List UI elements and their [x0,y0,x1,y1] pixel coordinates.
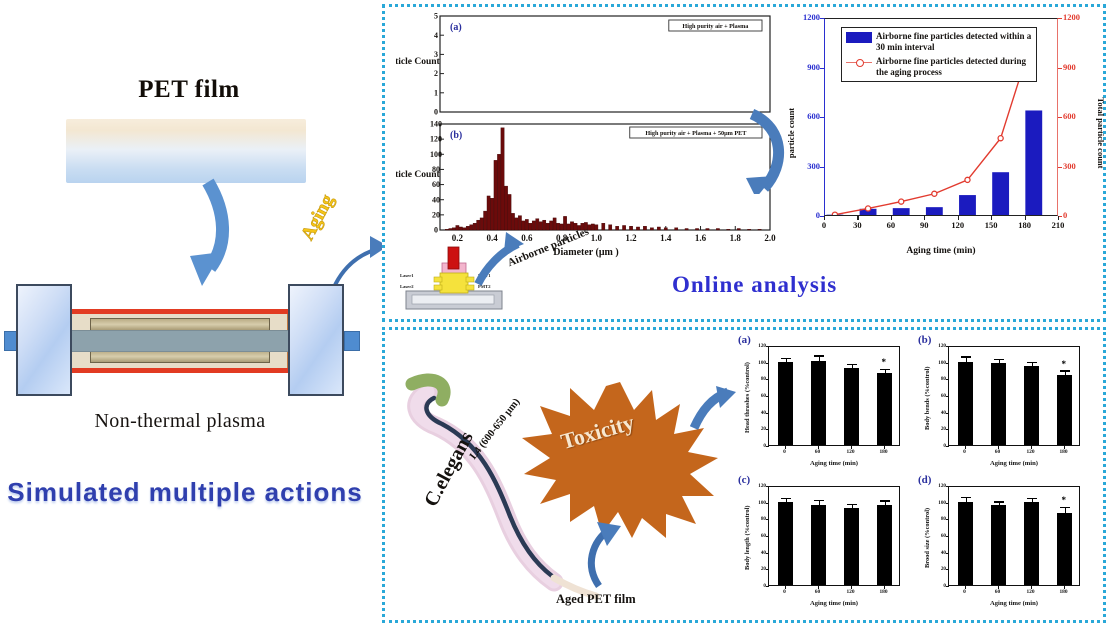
particle-size-distribution-chart: 0123450204060801001201400.20.40.60.81.01… [396,8,776,258]
tick-mark [998,446,999,449]
significance-marker: * [1062,359,1067,369]
bar [811,361,826,445]
hv-line-bottom [64,368,292,373]
tick-mark [965,586,966,589]
tick-mark [946,519,949,520]
y-tick: 80 [930,376,946,382]
svg-text:2.0: 2.0 [764,233,776,243]
svg-text:1: 1 [434,88,438,97]
svg-text:60: 60 [432,180,440,189]
x-tick: 0 [812,220,836,230]
x-axis-label: Aging time (min) [768,460,900,467]
bar [1024,366,1039,445]
tick-mark [1064,586,1065,589]
tick-mark [766,486,769,487]
y-tick: 60 [750,393,766,399]
x-tick: 90 [912,220,936,230]
tick-mark [766,413,769,414]
tick-mark [946,503,949,504]
y-tick: 0 [750,583,766,589]
error-bar [999,360,1000,363]
tick-mark [884,586,885,589]
legend-item-line: Airborne fine particles detected during … [846,56,1032,79]
error-bar-cap [880,369,890,370]
bar [958,502,973,585]
error-bar [1065,372,1066,375]
plasma-aging-schematic: PET film Aging Non-t [0,0,378,627]
reactor-caption: Non-thermal plasma [4,410,356,433]
tick-mark [785,586,786,589]
legend-label-line: Airborne fine particles detected during … [876,56,1032,79]
svg-text:(b): (b) [450,130,462,141]
tick-mark [766,553,769,554]
tick-mark [1025,216,1026,220]
y-tick-left: 300 [790,161,820,171]
x-tick: 150 [979,220,1003,230]
error-bar [852,365,853,368]
y-tick: 0 [750,443,766,449]
bar [844,508,859,586]
svg-text:1.0: 1.0 [591,233,603,243]
bar [1057,513,1072,586]
tick-mark [766,446,769,447]
tick-mark [946,413,949,414]
y-tick: 120 [750,483,766,489]
brood-size-chart: (d) Brood size (%control) * Aging time (… [918,474,1094,616]
tick-mark [946,486,949,487]
y-tick: 80 [750,516,766,522]
y-tick: 120 [750,343,766,349]
y-tick: 40 [930,410,946,416]
tick-mark [766,396,769,397]
y-tick: 40 [750,410,766,416]
arrow-down-icon [178,178,238,288]
plot-area: * [948,486,1080,586]
y-tick: 120 [930,483,946,489]
x-axis-label: Aging time (min) [948,460,1080,467]
tick-mark [958,216,959,220]
y-tick: 80 [930,516,946,522]
error-bar-cap [814,500,824,501]
tick-mark [820,167,824,168]
x-tick: 180 [872,449,896,455]
svg-text:2: 2 [434,69,438,78]
histogram-canvas: 0123450204060801001201400.20.40.60.81.01… [396,8,776,258]
bar [778,362,793,445]
significance-marker: * [1062,495,1067,505]
error-bar-cap [781,358,791,359]
error-bar [819,501,820,505]
tick-mark [818,446,819,449]
x-tick: 60 [879,220,903,230]
legend-swatch-line-icon [846,57,872,68]
bar [844,368,859,445]
bar [1024,502,1039,585]
simulated-actions-label: Simulated multiple actions [0,477,370,508]
chart-legend: Airborne fine particles detected within … [841,27,1037,82]
error-bar-cap [880,500,890,501]
y-tick-right: 900 [1063,62,1076,72]
tick-mark [946,586,949,587]
panel-tag-a: (a) [738,334,751,346]
tick-mark [1058,216,1059,220]
error-bar-cap [847,364,857,365]
tick-mark [1058,167,1062,168]
svg-text:0.2: 0.2 [452,233,464,243]
bar [877,373,892,445]
pet-sample-strip [68,330,288,352]
error-bar [1032,363,1033,366]
legend-swatch-bar-icon [846,32,872,43]
aging-y-axis-label-right: Total particle count [1096,98,1106,169]
svg-text:5: 5 [434,12,438,21]
reactor-endcap-right [288,284,344,396]
tick-mark [946,379,949,380]
svg-text:100: 100 [430,150,442,159]
tick-mark [766,379,769,380]
bar [877,505,892,585]
x-tick: 180 [1052,589,1076,595]
tick-mark [820,117,824,118]
svg-text:1.6: 1.6 [695,233,707,243]
y-tick: 20 [750,566,766,572]
reactor-endcap-left [16,284,72,396]
tick-mark [946,536,949,537]
error-bar-cap [781,498,791,499]
error-bar-cap [961,356,971,357]
error-bar [1032,499,1033,502]
tick-mark [1058,117,1062,118]
svg-text:40: 40 [432,195,440,204]
x-tick: 180 [1052,449,1076,455]
svg-text:20: 20 [432,210,440,219]
svg-text:1.4: 1.4 [660,233,672,243]
tick-mark [766,586,769,587]
error-bar-cap [847,504,857,505]
aging-x-axis-label: Aging time (min) [824,246,1058,256]
legend-label-bar: Airborne fine particles detected within … [876,31,1032,54]
y-tick: 100 [930,360,946,366]
arrow-right-icon [690,386,738,432]
svg-text:4: 4 [434,31,438,40]
aged-pet-film-label: Aged PET film [556,592,636,607]
svg-text:Particle Count: Particle Count [396,170,441,180]
y-tick: 0 [930,583,946,589]
tick-mark [851,586,852,589]
aging-time-particle-count-chart: Airborne fine particles detected within … [790,8,1102,258]
tick-mark [785,446,786,449]
hv-line-top [64,309,292,314]
x-tick: 0 [953,449,977,455]
tick-mark [766,519,769,520]
tick-mark [946,396,949,397]
svg-text:High purity air + Plasma: High purity air + Plasma [682,23,748,30]
error-bar-cap [1060,507,1070,508]
head-thrashes-chart: (a) Head thrashes (%control) * Aging tim… [738,334,914,474]
x-tick: 120 [1019,449,1043,455]
error-bar-cap [994,501,1004,502]
tick-mark [1064,446,1065,449]
x-tick: 0 [773,589,797,595]
tick-mark [766,429,769,430]
bar [991,505,1006,585]
y-tick-right: 600 [1063,111,1076,121]
error-bar-cap [994,359,1004,360]
tick-mark [965,446,966,449]
tick-mark [946,569,949,570]
online-analysis-label: Online analysis [672,272,837,298]
y-tick: 100 [750,360,766,366]
y-tick: 40 [930,550,946,556]
x-tick: 120 [946,220,970,230]
y-tick: 60 [930,393,946,399]
x-tick: 210 [1046,220,1070,230]
y-tick-right: 0 [1063,210,1067,220]
x-tick: 180 [872,589,896,595]
laser1-label: Laser1 [400,273,414,278]
error-bar-cap [1060,370,1070,371]
y-tick: 20 [750,426,766,432]
aging-plot-area: Airborne fine particles detected within … [824,18,1058,216]
legend-item-bar: Airborne fine particles detected within … [846,31,1032,54]
y-tick: 60 [930,533,946,539]
graphical-abstract: PET film Aging Non-t [0,0,1110,627]
svg-text:1.8: 1.8 [730,233,742,243]
laser2-label: Laser2 [400,284,414,289]
y-tick-left: 0 [790,210,820,220]
tick-mark [884,446,885,449]
tick-mark [1031,586,1032,589]
y-tick-left: 600 [790,111,820,121]
error-bar [966,498,967,501]
tick-mark [766,363,769,364]
error-bar [966,358,967,362]
error-bar [786,499,787,502]
bar [1057,375,1072,445]
error-bar [885,502,886,505]
svg-text:High purity air + Plasma + 50μ: High purity air + Plasma + 50μm PET [645,130,747,137]
plot-area: * [768,346,900,446]
svg-text:1.2: 1.2 [625,233,637,243]
tick-mark [946,553,949,554]
y-tick: 0 [930,443,946,449]
y-tick: 20 [930,426,946,432]
y-tick-left: 900 [790,62,820,72]
svg-text:(a): (a) [450,22,462,33]
tick-mark [820,18,824,19]
body-bends-chart: (b) Body bends (%control) * Aging time (… [918,334,1094,474]
page-title: PET film [58,76,320,104]
error-bar-cap [1027,362,1037,363]
bar [958,362,973,445]
svg-text:140: 140 [430,120,442,129]
error-bar-cap [814,355,824,356]
tick-mark [766,536,769,537]
tick-mark [946,429,949,430]
tick-mark [1058,68,1062,69]
tick-mark [818,586,819,589]
tick-mark [766,503,769,504]
error-bar [852,505,853,508]
tick-mark [891,216,892,220]
tick-mark [1031,446,1032,449]
y-tick: 120 [930,343,946,349]
tick-mark [946,446,949,447]
x-tick: 180 [1013,220,1037,230]
bar [778,502,793,585]
tick-mark [946,346,949,347]
plasma-reactor-diagram [4,284,356,396]
tick-mark [766,346,769,347]
plot-area: * [948,346,1080,446]
tick-mark [824,216,825,220]
error-bar-cap [1027,498,1037,499]
x-tick: 120 [839,449,863,455]
y-tick: 80 [750,376,766,382]
significance-marker: * [882,357,887,367]
x-tick: 60 [806,449,830,455]
bar [991,363,1006,446]
y-tick-left: 1200 [790,12,820,22]
x-tick: 0 [773,449,797,455]
x-axis-label: Aging time (min) [768,600,900,607]
svg-text:Particle Count: Particle Count [396,57,441,67]
body-length-chart: (c) Body length (%control) Aging time (m… [738,474,914,616]
tick-mark [998,586,999,589]
plot-area [768,486,900,586]
arrow-up-icon [577,520,631,590]
tick-mark [820,68,824,69]
tick-mark [766,569,769,570]
error-bar [1065,508,1066,512]
y-tick: 100 [930,500,946,506]
svg-text:0: 0 [434,108,438,117]
pet-film-illustration [66,119,306,183]
x-tick: 0 [953,589,977,595]
bar [811,505,826,585]
x-tick: 60 [806,589,830,595]
x-tick: 120 [839,589,863,595]
x-tick: 60 [986,589,1010,595]
tick-mark [851,446,852,449]
y-tick-right: 1200 [1063,12,1080,22]
tick-mark [946,363,949,364]
gas-outlet-port [344,331,360,351]
error-bar [786,359,787,362]
y-tick: 40 [750,550,766,556]
x-tick: 120 [1019,589,1043,595]
y-tick: 20 [930,566,946,572]
tick-mark [1058,18,1062,19]
tick-mark [857,216,858,220]
error-bar [999,503,1000,506]
error-bar-cap [961,497,971,498]
tick-mark [924,216,925,220]
x-tick: 60 [986,449,1010,455]
error-bar [885,370,886,373]
svg-text:120: 120 [430,135,442,144]
y-tick: 100 [750,500,766,506]
svg-text:0: 0 [434,226,438,235]
error-bar [819,357,820,361]
panel-tag-c: (c) [738,474,750,486]
x-tick: 30 [845,220,869,230]
x-axis-label: Aging time (min) [948,600,1080,607]
tick-mark [991,216,992,220]
y-tick: 60 [750,533,766,539]
y-tick-right: 300 [1063,161,1076,171]
